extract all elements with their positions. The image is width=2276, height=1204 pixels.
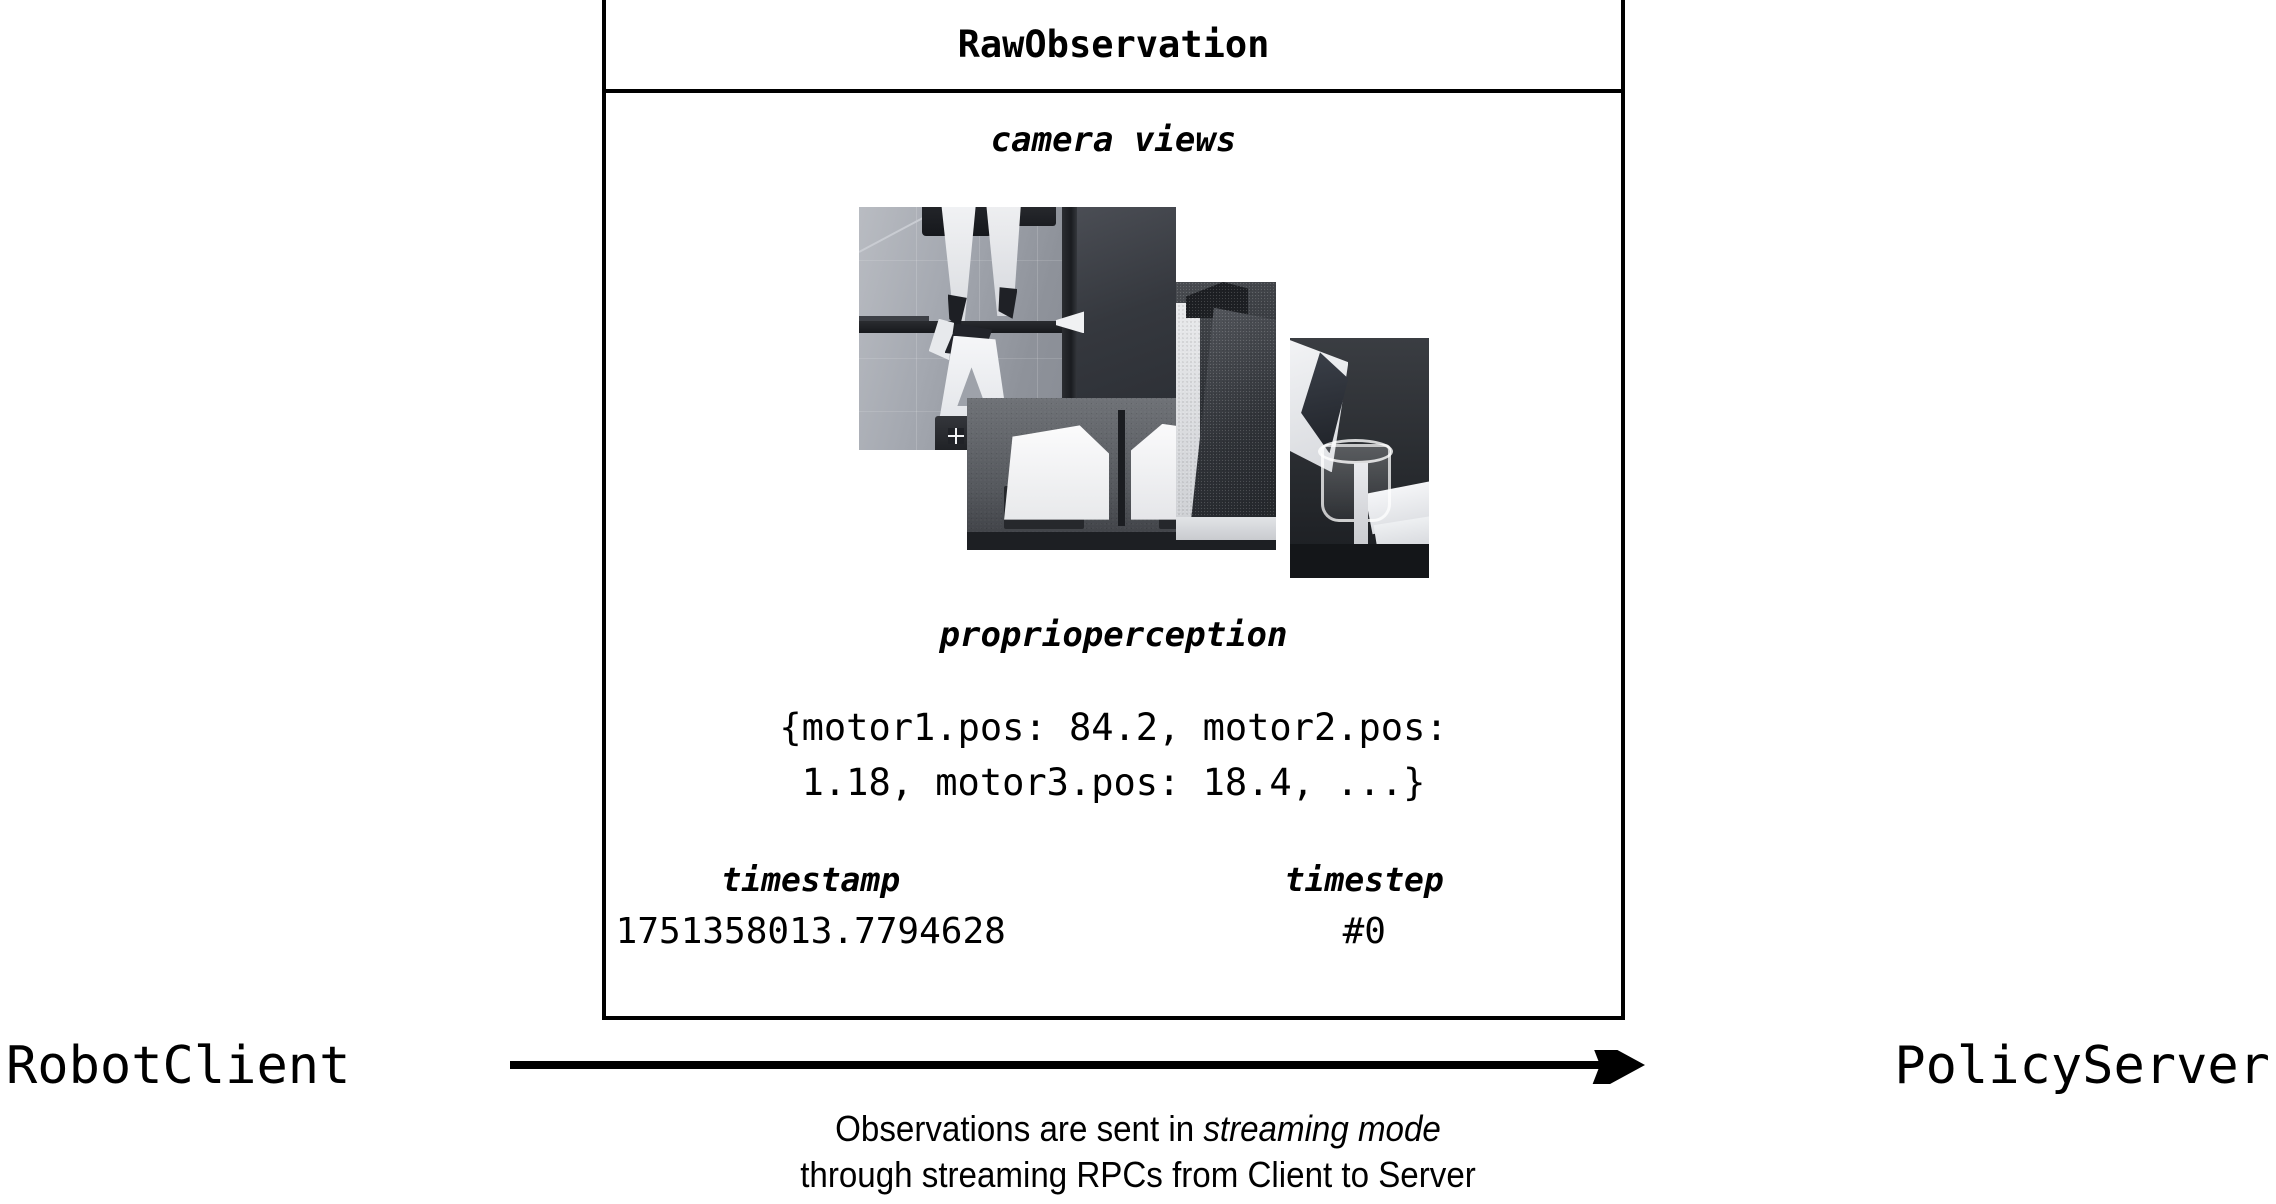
- timestep-label: timestep: [1108, 860, 1622, 899]
- flow-caption: Observations are sent in streaming mode …: [91, 1106, 2185, 1198]
- camera-views-collage: [606, 140, 1629, 600]
- camera-view-wrist: [1176, 282, 1276, 540]
- timestep-column: timestep #0: [1108, 860, 1622, 952]
- timestamp-column: timestamp 1751358013.7794628: [554, 860, 1068, 952]
- policy-server-label: PolicyServer: [1894, 1036, 2270, 1096]
- metadata-row: timestamp 1751358013.7794628 timestep #0: [606, 860, 1621, 952]
- caption-line-2: through streaming RPCs from Client to Se…: [91, 1152, 2185, 1198]
- timestamp-value: 1751358013.7794628: [554, 911, 1068, 952]
- robot-client-label: RobotClient: [6, 1036, 350, 1096]
- raw-observation-card: RawObservation camera views: [602, 0, 1625, 1020]
- timestamp-label: timestamp: [554, 860, 1068, 899]
- caption-line-1-prefix: Observations are sent in: [835, 1108, 1203, 1149]
- card-header: RawObservation: [606, 0, 1621, 93]
- camera-view-side-cup: [1290, 338, 1429, 578]
- caption-line-1: Observations are sent in streaming mode: [91, 1106, 2185, 1152]
- proprioperception-label: proprioperception: [606, 615, 1621, 655]
- client-to-server-arrow: [510, 1050, 1645, 1084]
- proprioperception-value: {motor1.pos: 84.2, motor2.pos: 1.18, mot…: [646, 700, 1581, 810]
- timestep-value: #0: [1108, 911, 1622, 952]
- caption-line-1-emphasis: streaming mode: [1203, 1108, 1440, 1149]
- card-title: RawObservation: [958, 23, 1270, 66]
